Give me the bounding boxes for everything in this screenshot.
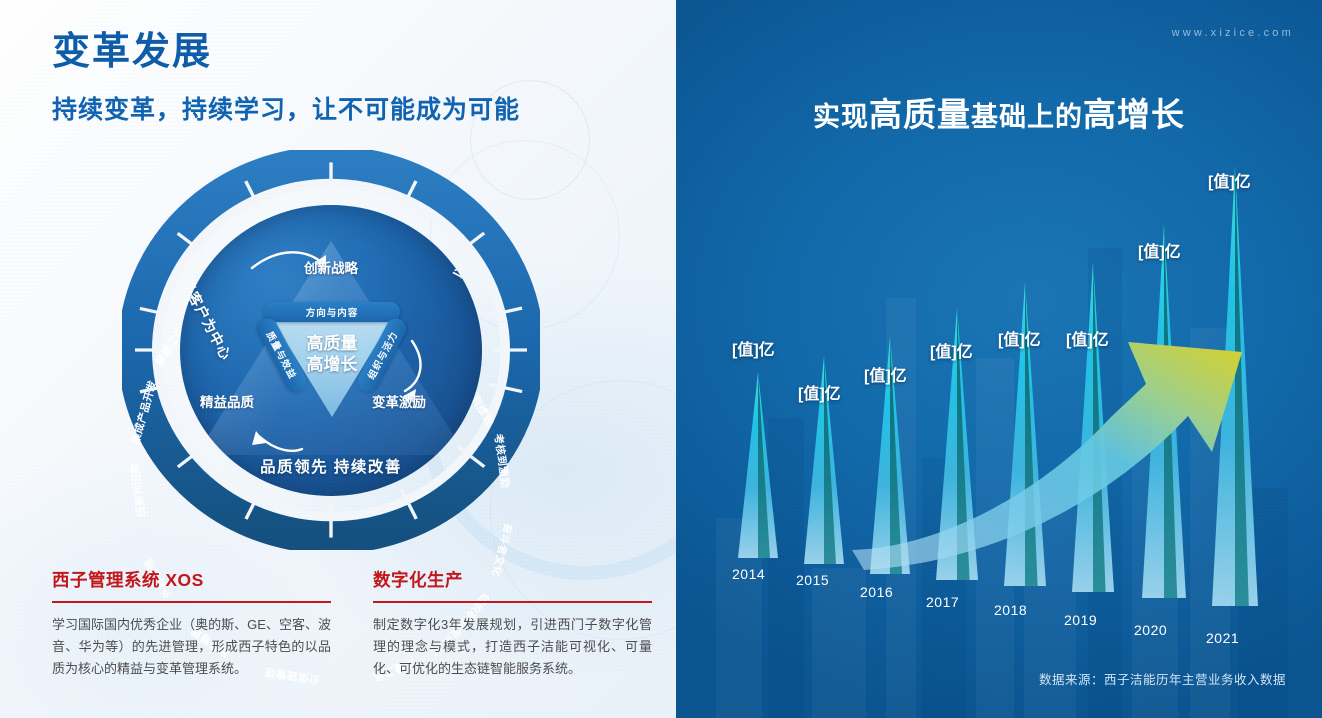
page-title: 变革发展	[52, 30, 520, 76]
corner-label-change-incentive: 变革激励	[372, 391, 426, 411]
column-xos-heading: 西子管理系统 XOS	[52, 567, 331, 592]
axis-label-2019: 2019	[1064, 612, 1097, 628]
value-label-2020: [值]亿	[1138, 238, 1181, 262]
title-block: 变革发展 持续变革，持续学习，让不可能成为可能	[52, 30, 520, 126]
value-label-2021: [值]亿	[1208, 168, 1251, 192]
axis-label-2014: 2014	[732, 566, 765, 582]
axis-label-2018: 2018	[994, 602, 1027, 618]
corner-label-lean-quality: 精益品质	[200, 391, 254, 411]
bar-2014[interactable]	[738, 372, 778, 558]
core-line-2: 高增长	[266, 354, 398, 375]
column-xos-body: 学习国际国内优秀企业（奥的斯、GE、空客、波音、华为等）的先进管理，形成西子特色…	[52, 614, 331, 681]
bottom-columns: 西子管理系统 XOS 学习国际国内优秀企业（奥的斯、GE、空客、波音、华为等）的…	[52, 567, 652, 681]
corner-label-innovation-strategy: 创新战略	[276, 257, 386, 277]
column-xos: 西子管理系统 XOS 学习国际国内优秀企业（奥的斯、GE、空客、波音、华为等）的…	[52, 567, 331, 681]
diagram-motto: 品质领先 持续改善	[180, 455, 482, 477]
bar-2020[interactable]	[1142, 224, 1186, 598]
bar-2019[interactable]	[1072, 262, 1114, 592]
diagram-inner-disc: 以客户为中心 以奋斗者为本 创新战略 精益品质 变革激励 方向与内容 质量与效益…	[180, 205, 482, 496]
left-panel: 变革发展 持续变革，持续学习，让不可能成为可能	[0, 0, 676, 718]
axis-label-2020: 2020	[1134, 622, 1167, 638]
core-text: 高质量 高增长	[266, 333, 398, 376]
xos-circular-diagram: 解题工坊 标杆学习 创新战略方法 战略工坊 计划到绩效 考核到激励 奋斗者文化 …	[122, 150, 540, 550]
column-digital-rule	[373, 601, 652, 603]
pill-direction-content[interactable]: 方向与内容	[264, 302, 400, 322]
column-digital-production: 数字化生产 制定数字化3年发展规划，引进西门子数字化管理的理念与模式，打造西子洁…	[373, 567, 652, 681]
column-xos-rule	[52, 601, 331, 603]
column-digital-body: 制定数字化3年发展规划，引进西门子数字化管理的理念与模式，打造西子洁能可视化、可…	[373, 614, 652, 681]
value-label-2017: [值]亿	[930, 338, 973, 362]
bar-2021[interactable]	[1212, 166, 1258, 606]
right-panel: www.xizice.com 实现高质量基础上的高增长	[676, 0, 1322, 718]
slide-root: 变革发展 持续变革，持续学习，让不可能成为可能	[0, 0, 1322, 718]
axis-label-2017: 2017	[926, 594, 959, 610]
value-label-2014: [值]亿	[732, 336, 775, 360]
column-digital-heading: 数字化生产	[373, 567, 652, 592]
axis-label-2016: 2016	[860, 584, 893, 600]
core-line-1: 高质量	[266, 333, 398, 354]
axis-label-2021: 2021	[1206, 630, 1239, 646]
value-label-2016: [值]亿	[864, 362, 907, 386]
growth-chart: [值]亿 [值]亿 [值]亿 [值]亿 [值]亿 [值]亿 [值]亿 [值]亿 …	[676, 0, 1322, 718]
value-label-2018: [值]亿	[998, 326, 1041, 350]
page-subtitle: 持续变革，持续学习，让不可能成为可能	[52, 90, 520, 126]
source-note: 数据来源：西子洁能历年主营业务收入数据	[1039, 669, 1286, 688]
value-label-2015: [值]亿	[798, 380, 841, 404]
value-label-2019: [值]亿	[1066, 326, 1109, 350]
axis-label-2015: 2015	[796, 572, 829, 588]
